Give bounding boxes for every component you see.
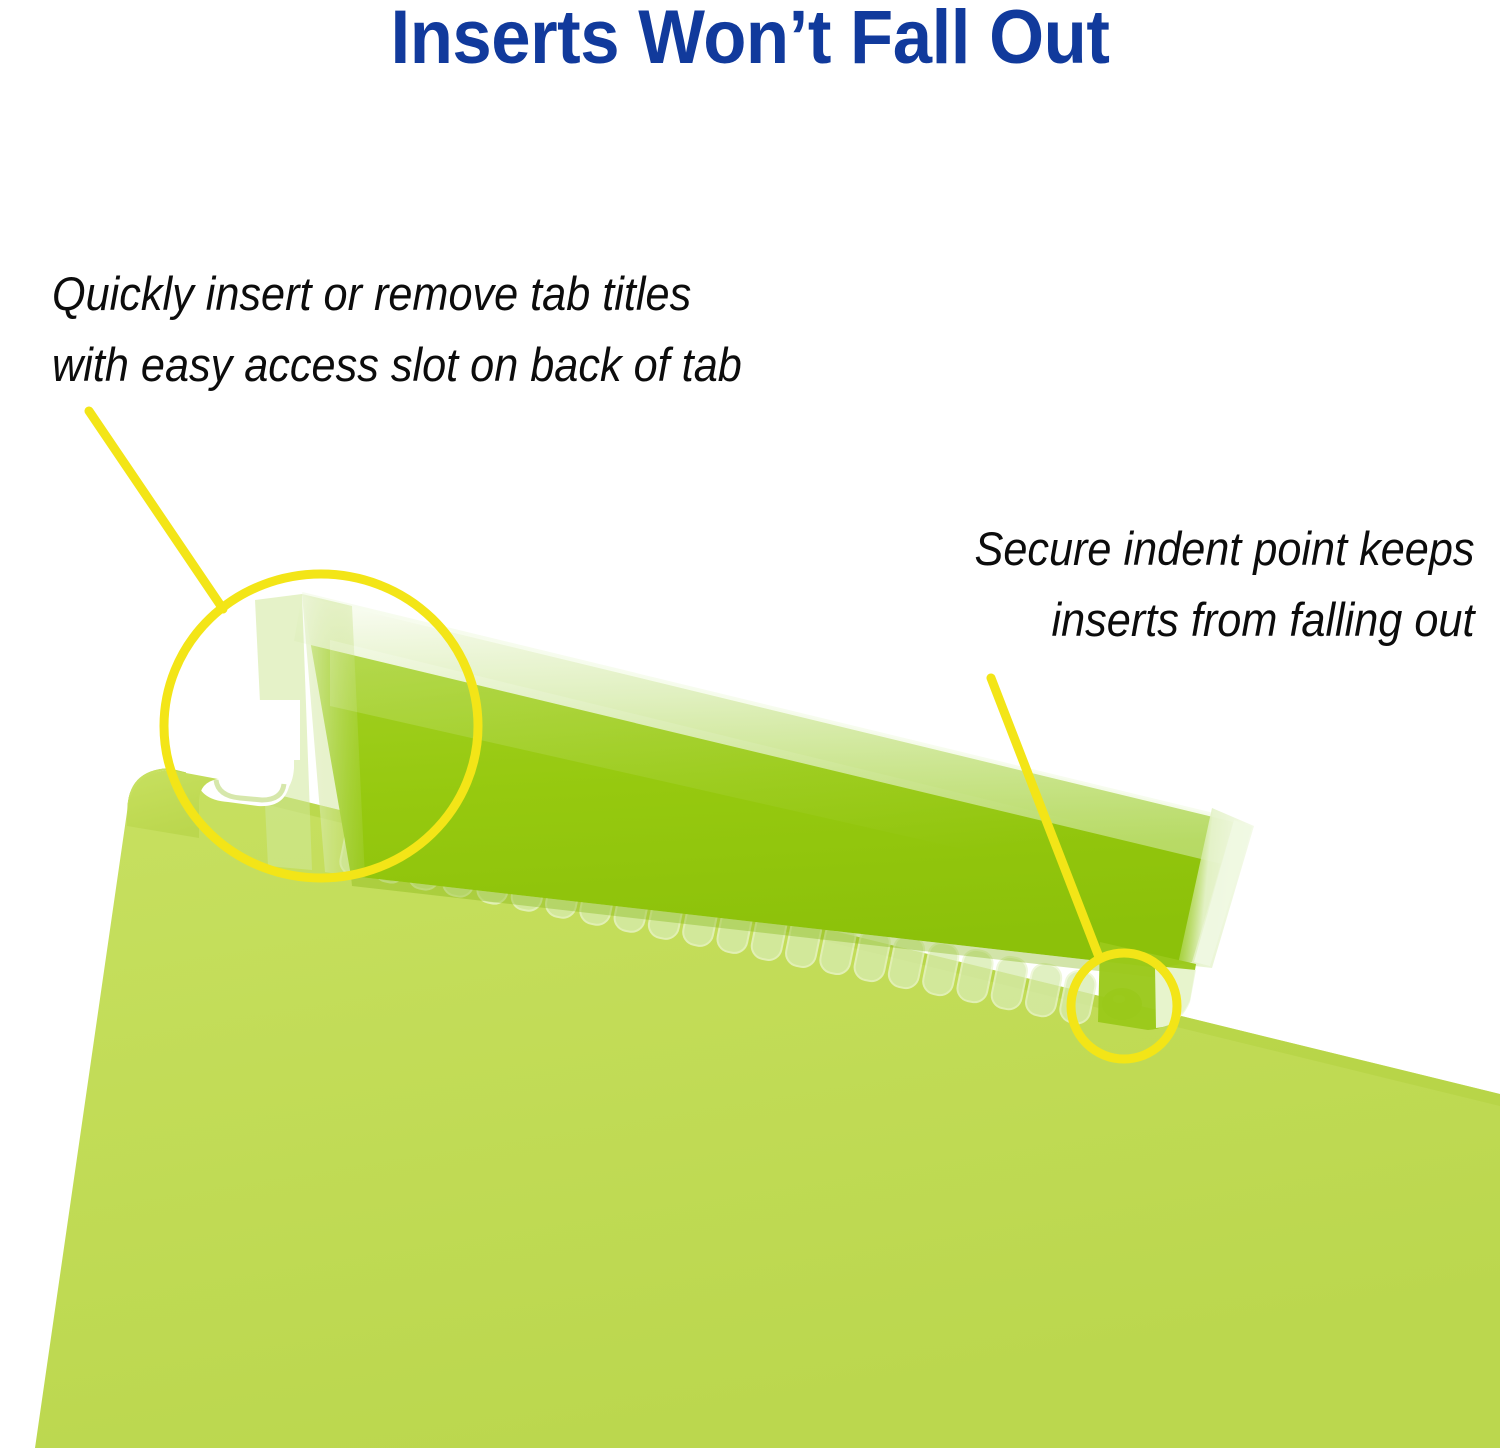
callout-access-slot-line1: Quickly insert or remove tab titles bbox=[52, 258, 742, 329]
product-feature-image: Inserts Won’t Fall Out bbox=[0, 0, 1500, 1448]
callout-access-slot-line2: with easy access slot on back of tab bbox=[52, 329, 742, 400]
product-illustration bbox=[0, 0, 1500, 1448]
left-leader-line bbox=[89, 411, 223, 609]
callout-indent-point: Secure indent point keeps inserts from f… bbox=[974, 513, 1474, 656]
callout-indent-point-line1: Secure indent point keeps bbox=[974, 513, 1474, 584]
callout-access-slot: Quickly insert or remove tab titles with… bbox=[52, 258, 742, 401]
callout-indent-point-line2: inserts from falling out bbox=[974, 584, 1474, 655]
